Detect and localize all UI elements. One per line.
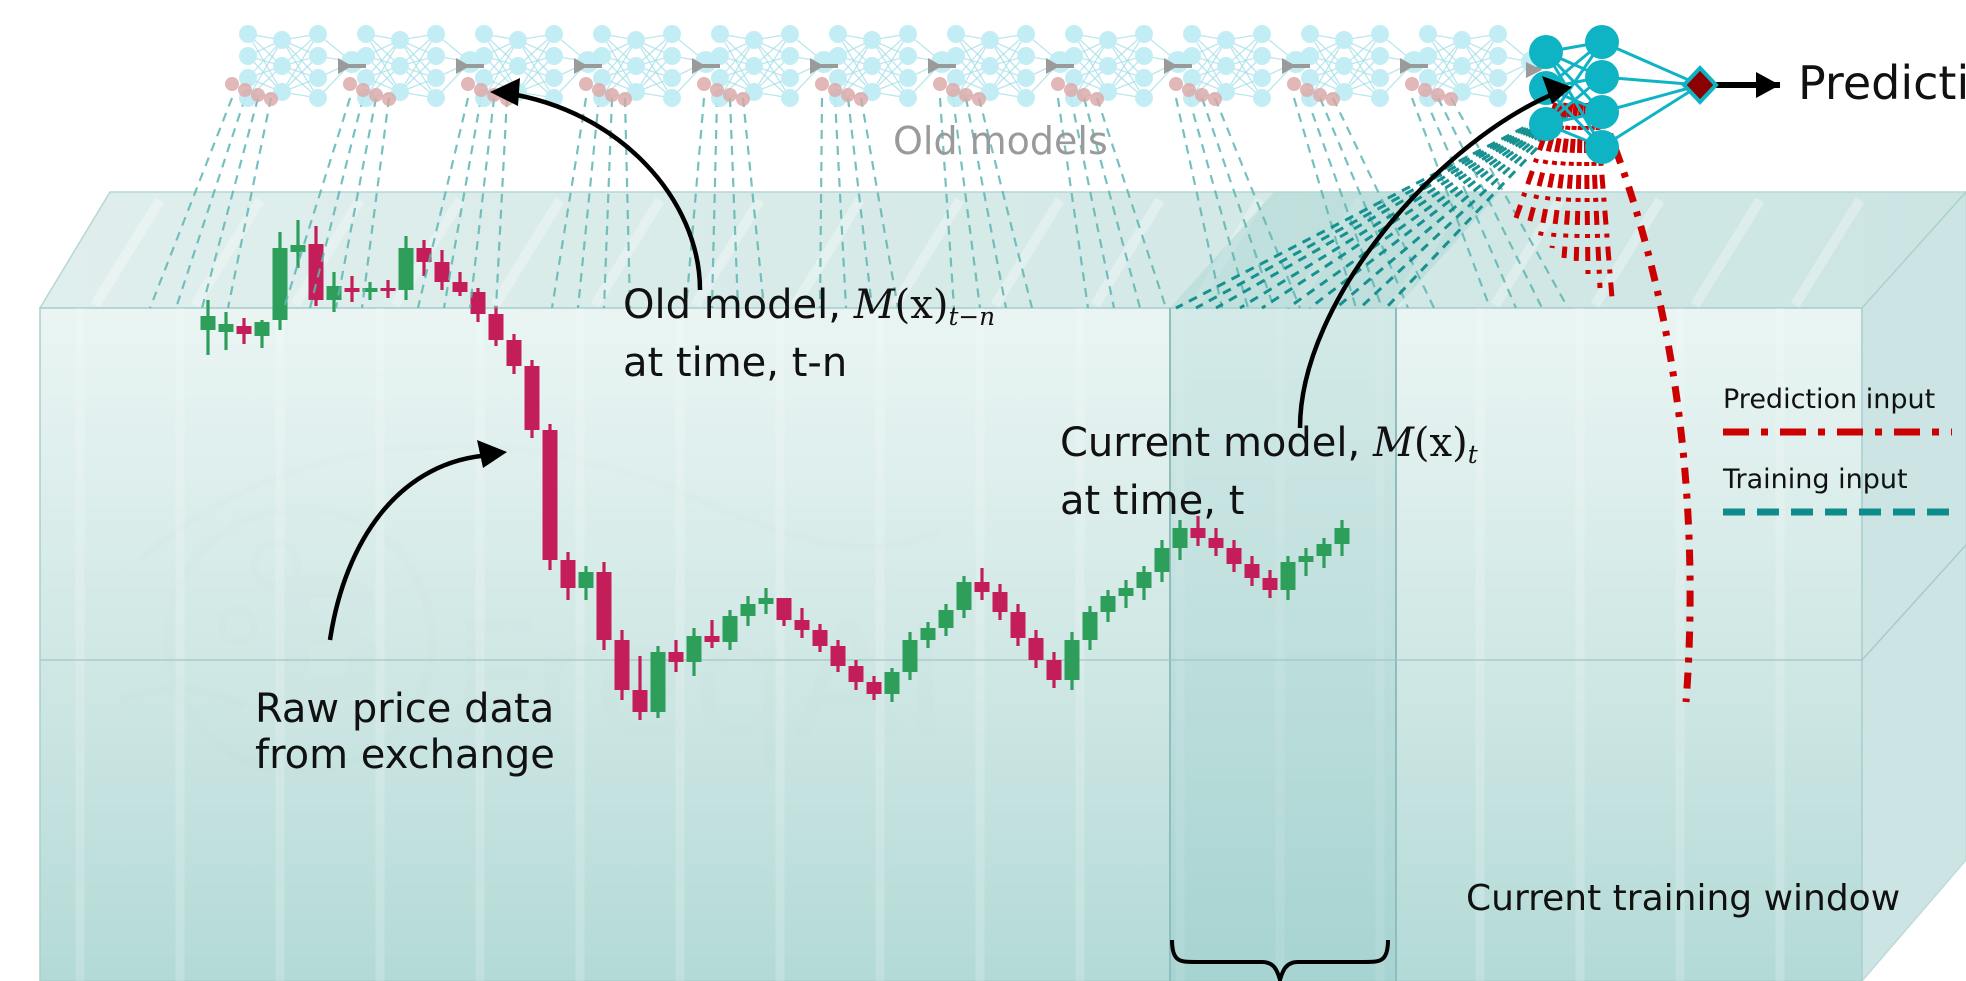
old-models-label: Old models — [893, 119, 1108, 163]
current-model-callout-prefix: Current model, — [1060, 420, 1373, 466]
figure-canvas: B FreqAI — [0, 0, 1966, 981]
old-model-math-m: M — [854, 282, 895, 328]
old-model-callout-line2: at time, t-n — [623, 340, 995, 386]
current-model-math-x: (x) — [1414, 420, 1468, 466]
old-model-math-sub: t−n — [948, 302, 995, 331]
raw-price-callout-line2: from exchange — [255, 732, 555, 778]
current-model-callout-line1: Current model, M(x)t — [1060, 420, 1478, 478]
prediction-label: Prediction — [1798, 56, 1966, 110]
legend-label-prediction-input: Prediction input — [1723, 384, 1935, 415]
current-model-callout: Current model, M(x)t at time, t — [1060, 420, 1478, 524]
old-model-callout-line1: Old model, M(x)t−n — [623, 282, 995, 340]
current-training-window-label: Current training window — [1466, 878, 1900, 919]
current-model-math-sub: t — [1468, 440, 1478, 469]
raw-price-callout-line1: Raw price data — [255, 686, 555, 732]
old-model-callout-prefix: Old model, — [623, 282, 854, 328]
old-model-math-x: (x) — [895, 282, 949, 328]
current-model-callout-line2: at time, t — [1060, 478, 1478, 524]
legend-label-training-input: Training input — [1723, 464, 1908, 495]
old-model-callout: Old model, M(x)t−n at time, t-n — [623, 282, 995, 386]
raw-price-callout: Raw price data from exchange — [255, 686, 555, 778]
current-model-math-m: M — [1373, 420, 1414, 466]
